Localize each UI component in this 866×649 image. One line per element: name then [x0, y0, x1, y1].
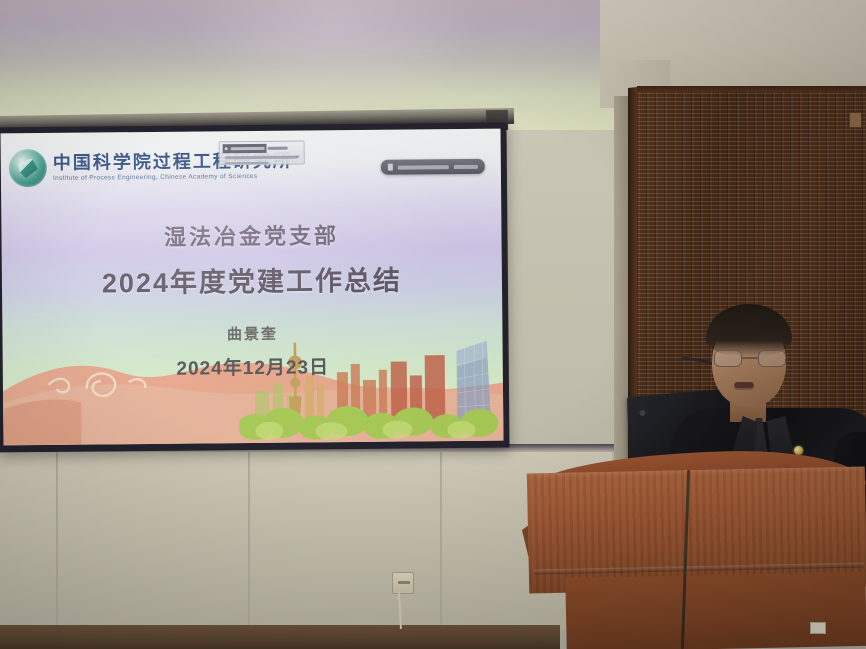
wall-seam: [248, 452, 250, 630]
toolbar-icon[interactable]: [388, 164, 393, 171]
toolbar-label: [398, 165, 449, 169]
podium-base: [565, 572, 866, 649]
toast-body-line: [225, 156, 298, 160]
presentation-slide: 中国科学院过程工程研究所 Institute of Process Engine…: [1, 129, 504, 446]
institute-name-en: Institute of Process Engineering, Chines…: [53, 173, 293, 182]
presenter-mouth: [734, 382, 754, 390]
glasses-icon: [714, 350, 786, 367]
presenter-hair: [706, 304, 792, 356]
glasses-lens-left: [714, 350, 742, 367]
institute-emblem-icon: [9, 149, 47, 187]
podium-inventory-label: [810, 622, 826, 634]
outlet-slot: [398, 581, 410, 584]
toast-header: [223, 144, 301, 154]
wood-wall-trim: [637, 86, 866, 92]
baseboard: [0, 625, 560, 649]
notification-toast[interactable]: ×: [219, 140, 305, 165]
laptop-hinge-detail: [639, 410, 645, 417]
glasses-bridge: [742, 357, 758, 359]
toolbar-label-secondary: [454, 164, 478, 168]
floating-presentation-toolbar[interactable]: [381, 159, 485, 175]
slide-date: 2024年12月23日: [3, 351, 503, 383]
toast-title-text: [231, 147, 265, 150]
toast-icon: [225, 147, 228, 150]
wall-plate: [849, 112, 862, 128]
lower-wall-panels: [0, 448, 612, 630]
room-photo-scene: 中国科学院过程工程研究所 Institute of Process Engine…: [0, 0, 866, 649]
close-icon[interactable]: ×: [296, 155, 300, 161]
wall-seam: [440, 452, 442, 630]
glasses-lens-right: [758, 350, 786, 367]
slide-title-line1: 湿法冶金党支部: [1, 217, 501, 254]
power-outlet-icon: [392, 572, 414, 594]
tree-row-artwork: [239, 401, 503, 444]
toast-body-line: [225, 162, 269, 165]
wall-seam: [56, 452, 58, 630]
projection-screen[interactable]: 中国科学院过程工程研究所 Institute of Process Engine…: [0, 123, 510, 453]
slide-title-line2: 2024年度党建工作总结: [2, 258, 502, 302]
toast-action-text: [268, 147, 288, 150]
